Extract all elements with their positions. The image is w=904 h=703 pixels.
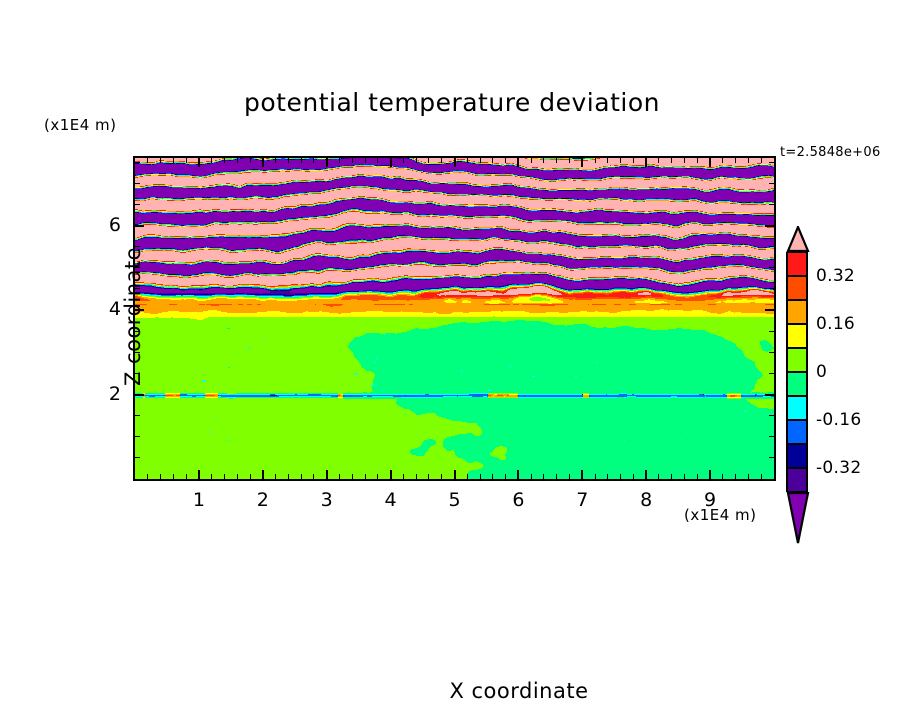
y-minor-tick xyxy=(769,204,774,205)
x-minor-tick xyxy=(735,474,736,479)
x-minor-tick xyxy=(748,158,749,163)
x-minor-tick xyxy=(428,474,429,479)
x-minor-tick xyxy=(748,474,749,479)
x-major-tick xyxy=(390,470,392,479)
colorbar-band xyxy=(786,372,808,396)
x-minor-tick xyxy=(556,158,557,163)
colorbar-tick-label: 0.32 xyxy=(816,266,855,286)
x-minor-tick xyxy=(531,474,532,479)
x-major-tick xyxy=(709,158,711,167)
x-minor-tick xyxy=(697,474,698,479)
x-minor-tick xyxy=(301,474,302,479)
y-minor-tick xyxy=(769,352,774,353)
x-major-tick xyxy=(709,470,711,479)
x-minor-tick xyxy=(147,158,148,163)
colorbar: 0.320.160-0.16-0.32 xyxy=(786,226,810,544)
x-major-tick xyxy=(198,470,200,479)
x-minor-tick xyxy=(211,158,212,163)
y-minor-tick xyxy=(769,288,774,289)
x-tick-label: 6 xyxy=(498,489,538,511)
figure-title: potential temperature deviation xyxy=(0,88,904,117)
y-minor-tick xyxy=(135,457,140,458)
x-minor-tick xyxy=(633,158,634,163)
x-minor-tick xyxy=(671,158,672,163)
colorbar-tick-label: -0.16 xyxy=(816,410,862,430)
x-minor-tick xyxy=(658,158,659,163)
colorbar-band xyxy=(786,420,808,444)
y-tick-label: 6 xyxy=(81,214,121,236)
x-tick-label: 8 xyxy=(626,489,666,511)
x-minor-tick xyxy=(173,158,174,163)
x-minor-tick xyxy=(377,474,378,479)
x-tick-label: 4 xyxy=(371,489,411,511)
x-major-tick xyxy=(581,158,583,167)
x-minor-tick xyxy=(288,474,289,479)
x-minor-tick xyxy=(531,158,532,163)
colorbar-band xyxy=(786,348,808,372)
x-minor-tick xyxy=(365,158,366,163)
x-major-tick xyxy=(517,158,519,167)
x-minor-tick xyxy=(556,474,557,479)
x-minor-tick xyxy=(403,158,404,163)
y-minor-tick xyxy=(135,162,140,163)
x-major-tick xyxy=(581,470,583,479)
x-minor-tick xyxy=(313,158,314,163)
y-minor-tick xyxy=(769,331,774,332)
x-minor-tick xyxy=(160,474,161,479)
x-minor-tick xyxy=(275,474,276,479)
colorbar-band xyxy=(786,444,808,468)
timestamp-annotation: t=2.5848e+06 xyxy=(780,145,881,160)
x-minor-tick xyxy=(505,158,506,163)
y-tick-label: 4 xyxy=(81,298,121,320)
colorbar-tick-label: 0.16 xyxy=(816,314,855,334)
x-minor-tick xyxy=(186,158,187,163)
x-minor-tick xyxy=(313,474,314,479)
colorbar-bands xyxy=(786,252,810,492)
x-minor-tick xyxy=(224,474,225,479)
x-minor-tick xyxy=(722,474,723,479)
x-minor-tick xyxy=(505,474,506,479)
x-major-tick xyxy=(262,470,264,479)
x-minor-tick xyxy=(416,474,417,479)
colorbar-band xyxy=(786,396,808,420)
x-minor-tick xyxy=(275,158,276,163)
x-tick-label: 5 xyxy=(435,489,475,511)
x-minor-tick xyxy=(671,474,672,479)
x-minor-tick xyxy=(416,158,417,163)
x-major-tick xyxy=(390,158,392,167)
colorbar-band xyxy=(786,300,808,324)
x-minor-tick xyxy=(441,158,442,163)
x-minor-tick xyxy=(365,474,366,479)
x-minor-tick xyxy=(147,474,148,479)
x-minor-tick xyxy=(186,474,187,479)
x-minor-tick xyxy=(658,474,659,479)
x-minor-tick xyxy=(377,158,378,163)
x-minor-tick xyxy=(722,158,723,163)
y-minor-tick xyxy=(769,415,774,416)
plot-frame: 123456789 246 X coordinate Z coordinate xyxy=(133,156,776,481)
x-major-tick xyxy=(326,470,328,479)
y-minor-tick xyxy=(769,373,774,374)
x-minor-tick xyxy=(761,474,762,479)
x-major-tick xyxy=(454,470,456,479)
x-minor-tick xyxy=(735,158,736,163)
y-minor-tick xyxy=(769,162,774,163)
colorbar-tick-label: -0.32 xyxy=(816,458,862,478)
y-tick-label: 2 xyxy=(81,383,121,405)
y-major-tick xyxy=(135,394,144,396)
contour-field xyxy=(135,158,774,479)
x-minor-tick xyxy=(352,474,353,479)
x-minor-tick xyxy=(543,474,544,479)
colorbar-band xyxy=(786,252,808,276)
x-tick-label: 1 xyxy=(179,489,219,511)
x-major-tick xyxy=(645,158,647,167)
x-minor-tick xyxy=(492,474,493,479)
x-minor-tick xyxy=(288,158,289,163)
x-minor-tick xyxy=(620,158,621,163)
y-major-tick xyxy=(765,394,774,396)
x-minor-tick xyxy=(633,474,634,479)
x-minor-tick xyxy=(543,158,544,163)
x-minor-tick xyxy=(684,474,685,479)
x-minor-tick xyxy=(761,158,762,163)
x-minor-tick xyxy=(595,474,596,479)
x-minor-tick xyxy=(237,474,238,479)
x-minor-tick xyxy=(224,158,225,163)
y-axis-title: Z coordinate xyxy=(121,247,145,386)
y-minor-tick xyxy=(769,267,774,268)
x-minor-tick xyxy=(492,158,493,163)
x-minor-tick xyxy=(684,158,685,163)
x-major-tick xyxy=(517,470,519,479)
x-major-tick xyxy=(198,158,200,167)
x-minor-tick xyxy=(607,474,608,479)
colorbar-band xyxy=(786,468,808,492)
y-minor-tick xyxy=(135,436,140,437)
y-major-tick xyxy=(765,225,774,227)
x-minor-tick xyxy=(697,158,698,163)
colorbar-band xyxy=(786,324,808,348)
y-minor-tick xyxy=(135,204,140,205)
x-minor-tick xyxy=(480,158,481,163)
x-axis-unit-label: (x1E4 m) xyxy=(684,506,757,524)
x-minor-tick xyxy=(467,158,468,163)
y-minor-tick xyxy=(769,436,774,437)
x-major-tick xyxy=(262,158,264,167)
figure-canvas: potential temperature deviation (x1E4 m)… xyxy=(0,0,904,654)
x-minor-tick xyxy=(607,158,608,163)
x-minor-tick xyxy=(339,474,340,479)
x-minor-tick xyxy=(173,474,174,479)
y-minor-tick xyxy=(769,246,774,247)
colorbar-tick-label: 0 xyxy=(816,362,827,382)
x-minor-tick xyxy=(211,474,212,479)
x-minor-tick xyxy=(237,158,238,163)
x-minor-tick xyxy=(428,158,429,163)
x-minor-tick xyxy=(352,158,353,163)
x-major-tick xyxy=(454,158,456,167)
x-minor-tick xyxy=(301,158,302,163)
colorbar-band xyxy=(786,276,808,300)
x-minor-tick xyxy=(467,474,468,479)
x-minor-tick xyxy=(569,158,570,163)
y-major-tick xyxy=(135,225,144,227)
x-minor-tick xyxy=(620,474,621,479)
x-minor-tick xyxy=(480,474,481,479)
x-tick-label: 2 xyxy=(243,489,283,511)
x-minor-tick xyxy=(595,158,596,163)
y-minor-tick xyxy=(769,183,774,184)
x-tick-label: 3 xyxy=(307,489,347,511)
x-axis-title: X coordinate xyxy=(135,679,903,703)
x-minor-tick xyxy=(441,474,442,479)
x-tick-label: 7 xyxy=(562,489,602,511)
y-minor-tick xyxy=(769,457,774,458)
x-minor-tick xyxy=(569,474,570,479)
x-minor-tick xyxy=(250,158,251,163)
x-minor-tick xyxy=(160,158,161,163)
x-minor-tick xyxy=(339,158,340,163)
z-axis-unit-label: (x1E4 m) xyxy=(44,116,117,134)
y-minor-tick xyxy=(135,415,140,416)
colorbar-under-arrow xyxy=(786,492,810,544)
x-minor-tick xyxy=(250,474,251,479)
y-minor-tick xyxy=(135,183,140,184)
x-major-tick xyxy=(326,158,328,167)
x-major-tick xyxy=(645,470,647,479)
y-major-tick xyxy=(765,309,774,311)
x-minor-tick xyxy=(403,474,404,479)
colorbar-over-arrow xyxy=(786,226,810,252)
